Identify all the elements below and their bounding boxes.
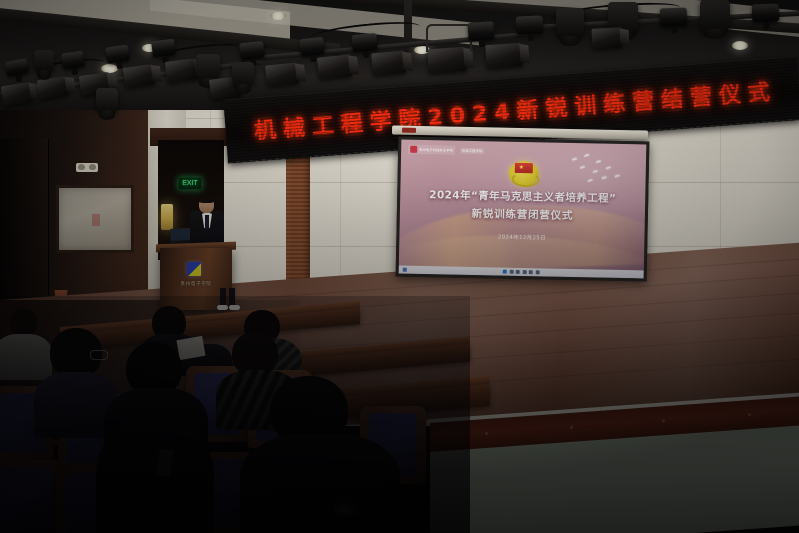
slide-title-line1: 2024年“青年马克思主义者培养工程” <box>400 188 645 208</box>
light-yoke <box>426 24 472 52</box>
moving-head-light <box>700 0 730 32</box>
college-logo-text: 贵州电子科技职业学院 <box>419 147 453 152</box>
moving-head-light <box>232 62 254 86</box>
left-door[interactable] <box>0 138 49 308</box>
projection-screen: 贵州电子科技职业学院 机械工程学院 ★ <box>396 136 650 281</box>
fresnel-stage-light <box>485 43 523 68</box>
taskbar-start-icon[interactable] <box>403 268 407 272</box>
par-can-light <box>151 39 176 58</box>
ceiling-downlight <box>270 12 286 20</box>
taskbar-icon[interactable] <box>516 270 520 274</box>
par-can-light <box>299 37 325 56</box>
par-can-light <box>660 8 688 27</box>
fresnel-stage-light <box>265 62 299 86</box>
speaker-tie <box>205 215 209 229</box>
taskbar-icon[interactable] <box>529 270 533 274</box>
taskbar-icon[interactable] <box>509 270 513 274</box>
youth-league-emblem-icon: ★ <box>508 158 539 189</box>
taskbar-icon[interactable] <box>535 270 539 274</box>
ceiling-downlight <box>732 41 748 50</box>
fresnel-stage-light <box>123 64 155 88</box>
moving-head-light <box>96 88 118 112</box>
par-can-light <box>61 51 85 70</box>
college-logo-mark <box>410 146 417 153</box>
podium-lamp <box>161 204 173 230</box>
podium-institution-text: 贵州电子学院 <box>166 281 226 287</box>
par-can-light <box>516 15 544 34</box>
auditorium-photo: EXIT <box>0 0 799 533</box>
par-can-light <box>752 4 780 23</box>
exit-sign-label: EXIT <box>182 180 198 187</box>
slide-logo-college: 贵州电子科技职业学院 <box>408 145 455 155</box>
moving-head-light <box>556 8 584 38</box>
fresnel-stage-light <box>317 54 352 79</box>
slide-logo-group: 贵州电子科技职业学院 机械工程学院 <box>408 145 484 156</box>
audience-area <box>0 300 470 533</box>
taskbar-icon[interactable] <box>503 270 507 274</box>
department-logo-text: 机械工程学院 <box>462 148 482 152</box>
fresnel-stage-light <box>591 27 622 49</box>
slide-logo-department: 机械工程学院 <box>460 147 484 153</box>
jacket-brand-logo <box>334 502 360 518</box>
standing-person-legs <box>218 288 238 312</box>
par-can-light <box>467 21 494 41</box>
dove-icons <box>566 154 627 189</box>
podium-logo-icon <box>187 262 201 276</box>
slide-title: 2024年“青年马克思主义者培养工程” 新锐训练营闭营仪式 <box>400 188 646 226</box>
exit-sign: EXIT <box>178 177 202 190</box>
fresnel-stage-light <box>165 58 198 83</box>
par-can-light <box>239 41 265 60</box>
auditorium-seat[interactable] <box>0 460 62 533</box>
fresnel-stage-light <box>371 51 406 76</box>
presentation-slide: 贵州电子科技职业学院 机械工程学院 ★ <box>399 140 647 279</box>
screen-control-button[interactable] <box>402 128 416 133</box>
list-item <box>96 416 214 533</box>
moving-head-light <box>196 54 220 80</box>
list-item <box>248 376 388 533</box>
emergency-light <box>76 163 98 172</box>
speaker-hair <box>198 195 215 203</box>
par-can-light <box>351 33 377 52</box>
eyeglasses-icon <box>90 350 108 360</box>
wall-notice-board <box>56 185 134 253</box>
par-can-light <box>105 44 130 63</box>
taskbar-icon[interactable] <box>522 270 526 274</box>
moving-head-light <box>34 50 54 72</box>
